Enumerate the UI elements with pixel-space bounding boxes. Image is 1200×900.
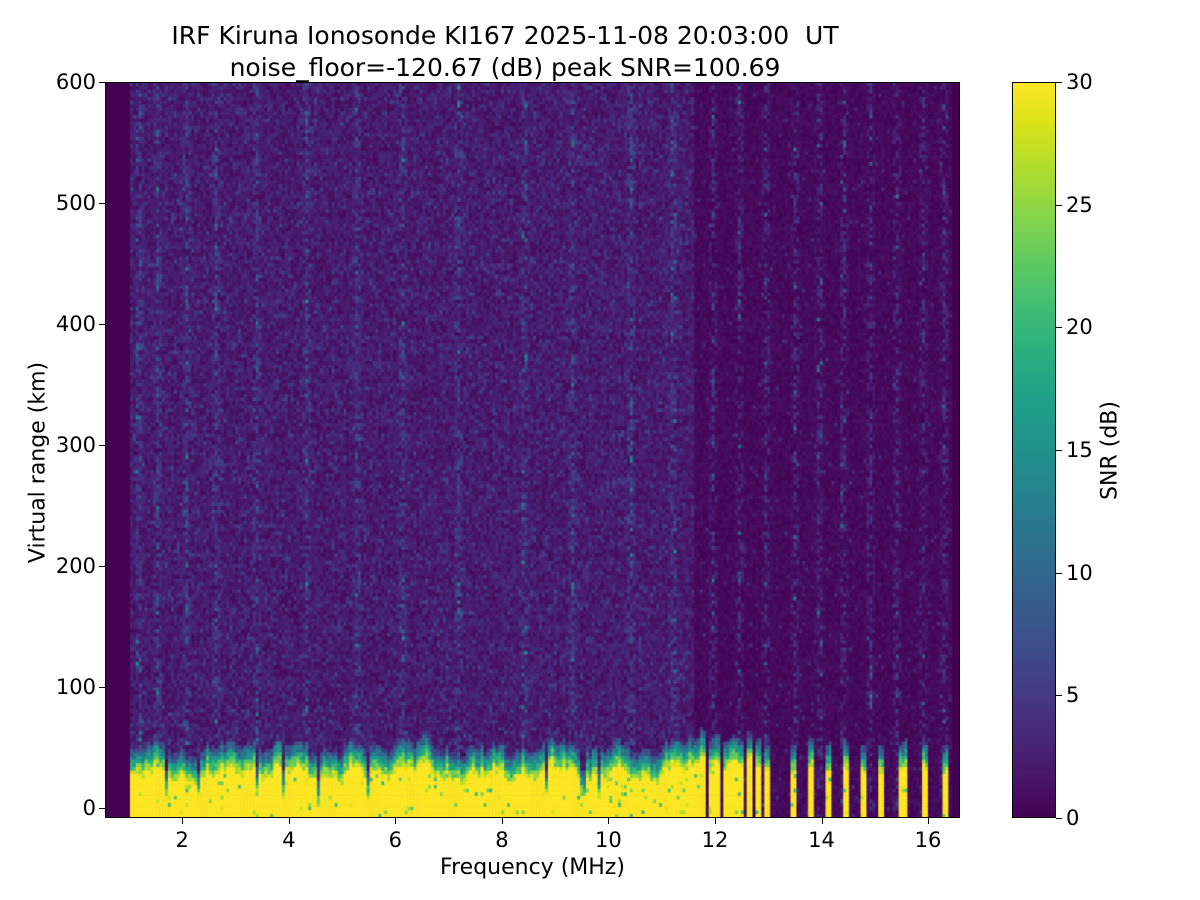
x-axis-label: Frequency (MHz) — [105, 855, 960, 880]
y-tick-0 — [99, 808, 105, 809]
colorbar-gradient — [1013, 83, 1055, 817]
y-axis-label: Virtual range (km) — [26, 333, 51, 593]
ionogram-plot-area[interactable] — [105, 82, 960, 818]
x-tick-4 — [289, 818, 290, 824]
y-tick-label-400: 400 — [56, 312, 96, 336]
y-tick-300 — [99, 445, 105, 446]
x-tick-label-2: 2 — [176, 828, 189, 852]
x-tick-10 — [608, 818, 609, 824]
x-tick-16 — [928, 818, 929, 824]
y-tick-label-0: 0 — [83, 796, 96, 820]
y-tick-label-600: 600 — [56, 70, 96, 94]
title-line-1: IRF Kiruna Ionosonde KI167 2025-11-08 20… — [0, 20, 1010, 52]
y-tick-label-100: 100 — [56, 675, 96, 699]
colorbar-tick-label-30: 30 — [1066, 70, 1093, 94]
y-tick-label-500: 500 — [56, 191, 96, 215]
x-tick-label-8: 8 — [495, 828, 508, 852]
colorbar-tick-label-5: 5 — [1066, 683, 1079, 707]
y-tick-400 — [99, 324, 105, 325]
colorbar-tick-label-20: 20 — [1066, 315, 1093, 339]
colorbar-tick-label-25: 25 — [1066, 193, 1093, 217]
y-tick-label-200: 200 — [56, 554, 96, 578]
colorbar-tick-label-15: 15 — [1066, 438, 1093, 462]
x-tick-label-6: 6 — [389, 828, 402, 852]
colorbar-label-wrap: SNR (dB) — [1090, 330, 1130, 570]
x-tick-label-12: 12 — [702, 828, 729, 852]
x-tick-12 — [715, 818, 716, 824]
x-tick-6 — [395, 818, 396, 824]
y-tick-600 — [99, 82, 105, 83]
colorbar-tick-25 — [1056, 205, 1062, 206]
colorbar-tick-label-10: 10 — [1066, 561, 1093, 585]
colorbar-tick-30 — [1056, 82, 1062, 83]
colorbar-tick-0 — [1056, 818, 1062, 819]
x-tick-label-14: 14 — [808, 828, 835, 852]
colorbar-tick-15 — [1056, 450, 1062, 451]
y-tick-200 — [99, 566, 105, 567]
colorbar-label: SNR (dB) — [1098, 331, 1123, 571]
x-tick-2 — [182, 818, 183, 824]
colorbar-tick-5 — [1056, 695, 1062, 696]
colorbar-tick-label-0: 0 — [1066, 806, 1079, 830]
x-tick-label-16: 16 — [915, 828, 942, 852]
colorbar[interactable] — [1012, 82, 1056, 818]
y-tick-500 — [99, 203, 105, 204]
ionogram-heatmap — [106, 83, 959, 817]
x-tick-8 — [502, 818, 503, 824]
y-tick-100 — [99, 687, 105, 688]
x-tick-14 — [822, 818, 823, 824]
y-tick-label-300: 300 — [56, 433, 96, 457]
x-tick-label-10: 10 — [595, 828, 622, 852]
title-line-2: noise_floor=-120.67 (dB) peak SNR=100.69 — [0, 52, 1010, 84]
colorbar-tick-10 — [1056, 573, 1062, 574]
colorbar-tick-20 — [1056, 327, 1062, 328]
ionogram-figure: IRF Kiruna Ionosonde KI167 2025-11-08 20… — [0, 0, 1200, 900]
figure-title: IRF Kiruna Ionosonde KI167 2025-11-08 20… — [0, 20, 1010, 84]
x-tick-label-4: 4 — [282, 828, 295, 852]
